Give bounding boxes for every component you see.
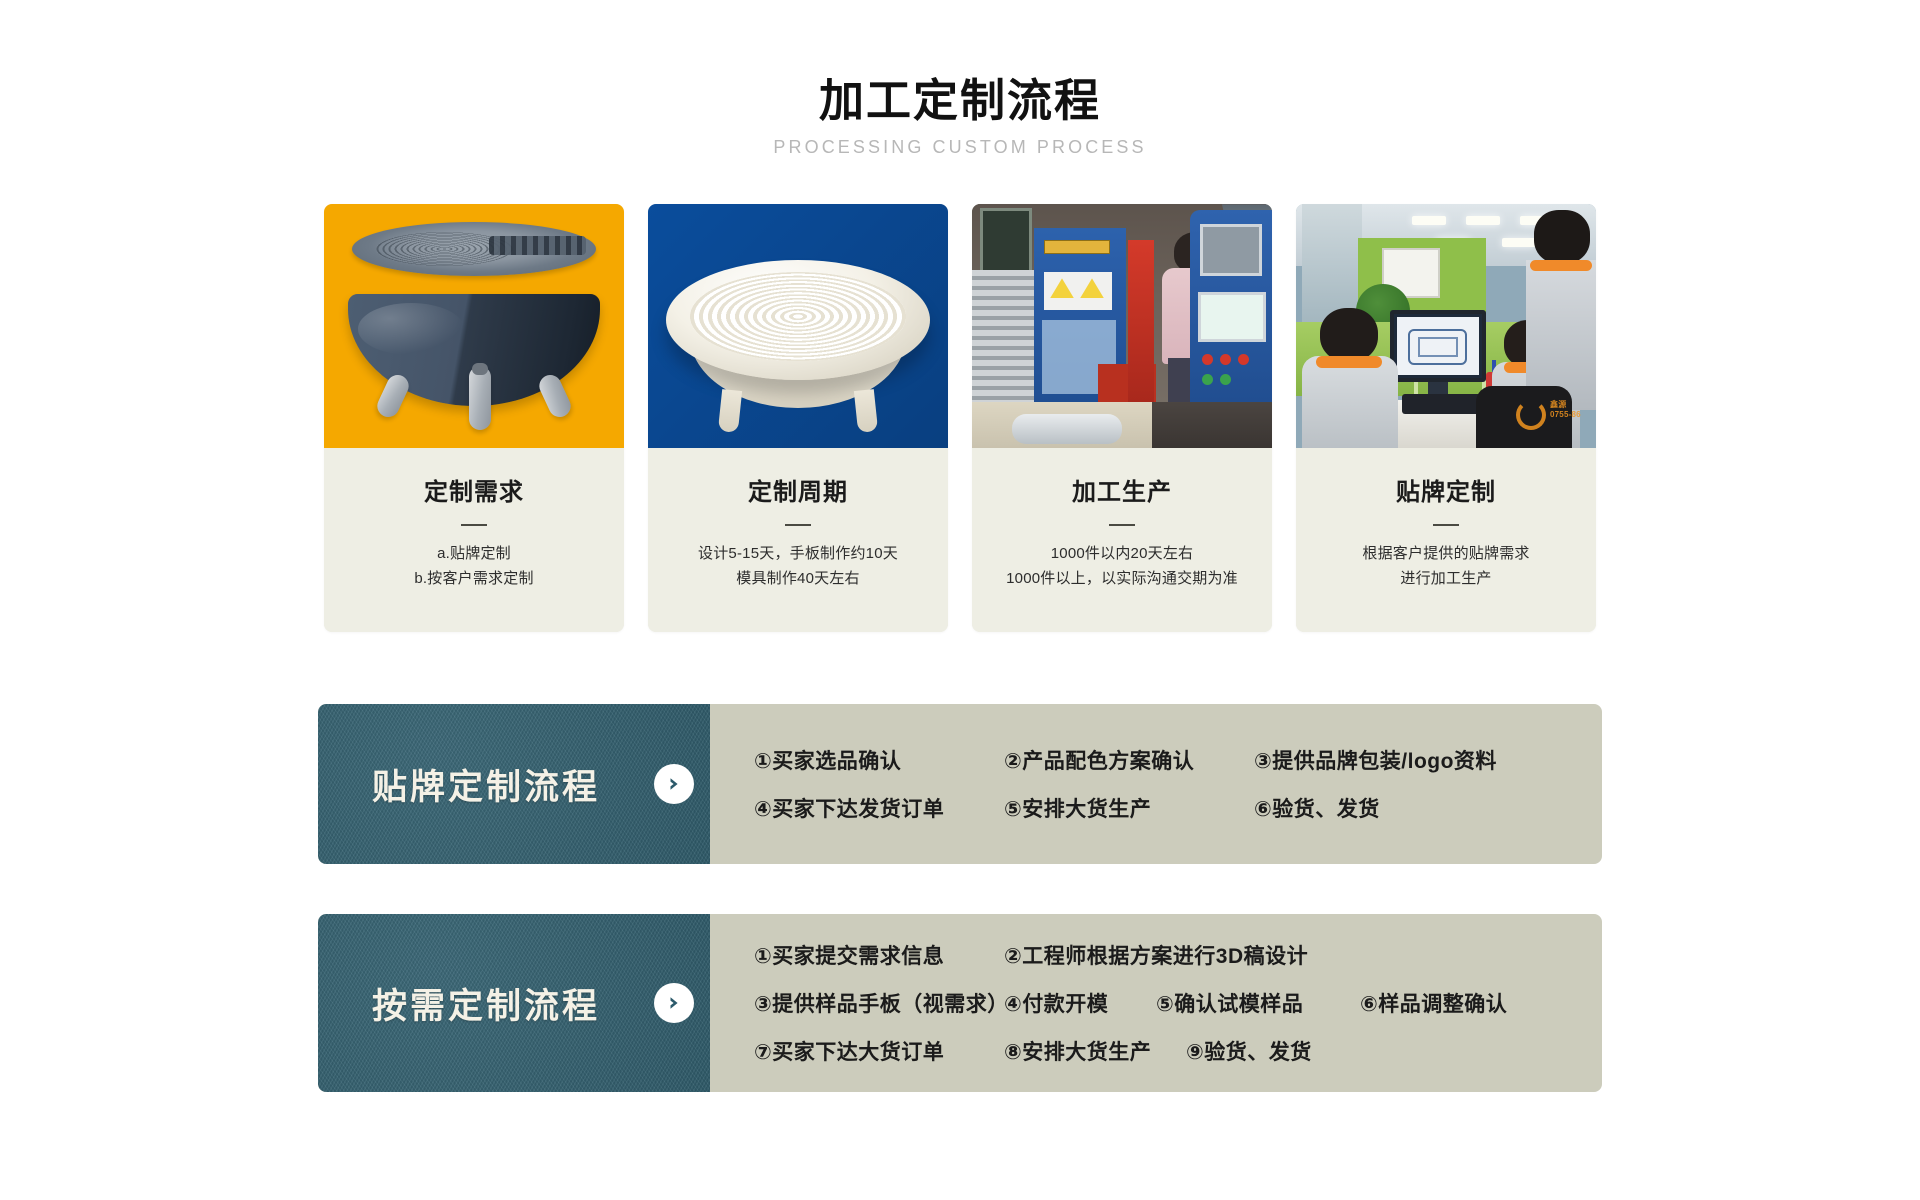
flow-step: ⑥验货、发货 xyxy=(1254,793,1380,823)
process-card-body: 定制周期 设计5-15天，手板制作约10天 模具制作40天左右 xyxy=(648,448,948,632)
molded-part xyxy=(1012,414,1122,444)
process-card-title: 加工生产 xyxy=(984,472,1260,507)
watermark-line-2: 0755-86 xyxy=(1550,410,1581,419)
process-card-body: 加工生产 1000件以内20天左右 1000件以上，以实际沟通交期为准 xyxy=(972,448,1272,632)
process-card-line: 模具制作40天左右 xyxy=(660,567,936,592)
flow-step: ①买家提交需求信息 xyxy=(754,940,1004,970)
keyboard xyxy=(1402,394,1482,414)
machine-label-plate xyxy=(1044,240,1110,254)
flow-step-row: ①买家选品确认 ②产品配色方案确认 ③提供品牌包装/logo资料 xyxy=(754,745,1572,775)
flow-label-text: 按需定制流程 xyxy=(372,978,600,1029)
page-header: 加工定制流程 PROCESSING CUSTOM PROCESS xyxy=(0,0,1920,158)
process-card-body: 贴牌定制 根据客户提供的贴牌需求 进行加工生产 xyxy=(1296,448,1596,632)
flow-step-grid: ①买家选品确认 ②产品配色方案确认 ③提供品牌包装/logo资料 ④买家下达发货… xyxy=(710,704,1602,864)
process-card-line: 1000件以上，以实际沟通交期为准 xyxy=(984,567,1260,592)
chevron-right-icon[interactable] xyxy=(654,983,694,1023)
flow-step: ⑤安排大货生产 xyxy=(1004,793,1254,823)
process-card[interactable]: 定制周期 设计5-15天，手板制作约10天 模具制作40天左右 xyxy=(648,204,948,632)
page-subtitle: PROCESSING CUSTOM PROCESS xyxy=(0,137,1920,158)
machine-display-green xyxy=(1198,292,1266,342)
process-card-title: 定制周期 xyxy=(660,472,936,507)
process-card-list: 定制需求 a.贴牌定制 b.按客户需求定制 定制周期 设计5-15天，手板制作约… xyxy=(0,204,1920,632)
product-leg-shape xyxy=(469,366,491,430)
process-card-line: b.按客户需求定制 xyxy=(336,567,612,592)
warning-sign xyxy=(1044,272,1112,310)
flow-step: ③提供样品手板（视需求） xyxy=(754,988,1004,1018)
process-card-line: 1000件以内20天左右 xyxy=(984,542,1260,567)
logo-ring-icon xyxy=(1516,400,1546,430)
white-prototype-photo xyxy=(648,204,948,448)
flow-step-row: ①买家提交需求信息 ②工程师根据方案进行3D稿设计 xyxy=(754,940,1572,970)
flow-step-row: ③提供样品手板（视需求） ④付款开模 ⑤确认试模样品 ⑥样品调整确认 xyxy=(754,988,1572,1018)
exploded-product-render xyxy=(324,204,624,448)
prototype-top-shape xyxy=(666,260,930,380)
machine-display xyxy=(1200,224,1262,276)
process-card-line: a.贴牌定制 xyxy=(336,542,612,567)
flow-label-panel[interactable]: 贴牌定制流程 xyxy=(318,704,710,864)
prototype-foot-shape xyxy=(854,389,878,433)
flow-step: ②工程师根据方案进行3D稿设计 xyxy=(1004,940,1308,970)
flow-step-row: ⑦买家下达大货订单 ⑧安排大货生产 ⑨验货、发货 xyxy=(754,1036,1572,1066)
watermark-logo: 鑫源0755-86 xyxy=(1516,398,1590,440)
red-machine-column xyxy=(1128,240,1154,404)
process-card-title: 贴牌定制 xyxy=(1308,472,1584,507)
watermark-line-1: 鑫源 xyxy=(1550,400,1566,409)
flow-step: ②产品配色方案确认 xyxy=(1004,745,1254,775)
process-card-body: 定制需求 a.贴牌定制 b.按客户需求定制 xyxy=(324,448,624,632)
product-leg-shape xyxy=(374,372,413,421)
flow-banner-ondemand: 按需定制流程 ①买家提交需求信息 ②工程师根据方案进行3D稿设计 ③提供样品手板… xyxy=(318,914,1602,1092)
flow-label-text: 贴牌定制流程 xyxy=(372,759,600,810)
chevron-right-icon[interactable] xyxy=(654,764,694,804)
flow-step: ③提供品牌包装/logo资料 xyxy=(1254,745,1497,775)
office-design-team-photo: 鑫源0755-86 xyxy=(1296,204,1596,448)
divider xyxy=(1109,524,1135,526)
flow-step: ⑨验货、发货 xyxy=(1186,1036,1312,1066)
flow-step: ④付款开模 xyxy=(1004,988,1156,1018)
flow-banner-oem: 贴牌定制流程 ①买家选品确认 ②产品配色方案确认 ③提供品牌包装/logo资料 … xyxy=(318,704,1602,864)
flow-step: ①买家选品确认 xyxy=(754,745,1004,775)
cad-monitor xyxy=(1390,310,1486,382)
process-card[interactable]: 加工生产 1000件以内20天左右 1000件以上，以实际沟通交期为准 xyxy=(972,204,1272,632)
flow-step-row: ④买家下达发货订单 ⑤安排大货生产 ⑥验货、发货 xyxy=(754,793,1572,823)
flow-label-panel[interactable]: 按需定制流程 xyxy=(318,914,710,1092)
process-card[interactable]: 鑫源0755-86 贴牌定制 根据客户提供的贴牌需求 进行加工生产 xyxy=(1296,204,1596,632)
employee-left xyxy=(1302,308,1398,448)
flow-step: ⑧安排大货生产 xyxy=(1004,1036,1186,1066)
flow-step: ⑤确认试模样品 xyxy=(1156,988,1360,1018)
product-lid-shape xyxy=(352,222,596,276)
flow-step: ⑥样品调整确认 xyxy=(1360,988,1507,1018)
process-card-line: 根据客户提供的贴牌需求 xyxy=(1308,542,1584,567)
page-title: 加工定制流程 xyxy=(0,76,1920,126)
process-card-line: 设计5-15天，手板制作约10天 xyxy=(660,542,936,567)
process-card-title: 定制需求 xyxy=(336,472,612,507)
divider xyxy=(785,524,811,526)
flow-step-grid: ①买家提交需求信息 ②工程师根据方案进行3D稿设计 ③提供样品手板（视需求） ④… xyxy=(710,914,1602,1092)
process-card[interactable]: 定制需求 a.贴牌定制 b.按客户需求定制 xyxy=(324,204,624,632)
prototype-foot-shape xyxy=(718,389,742,433)
divider xyxy=(461,524,487,526)
flow-step: ④买家下达发货订单 xyxy=(754,793,1004,823)
process-card-line: 进行加工生产 xyxy=(1308,567,1584,592)
factory-injection-molding-photo xyxy=(972,204,1272,448)
flow-banner-list: 贴牌定制流程 ①买家选品确认 ②产品配色方案确认 ③提供品牌包装/logo资料 … xyxy=(0,704,1920,1092)
flow-step: ⑦买家下达大货订单 xyxy=(754,1036,1004,1066)
page-root: 加工定制流程 PROCESSING CUSTOM PROCESS 定制需求 a.… xyxy=(0,0,1920,1200)
divider xyxy=(1433,524,1459,526)
product-leg-shape xyxy=(536,372,575,421)
employee-right xyxy=(1526,210,1596,410)
